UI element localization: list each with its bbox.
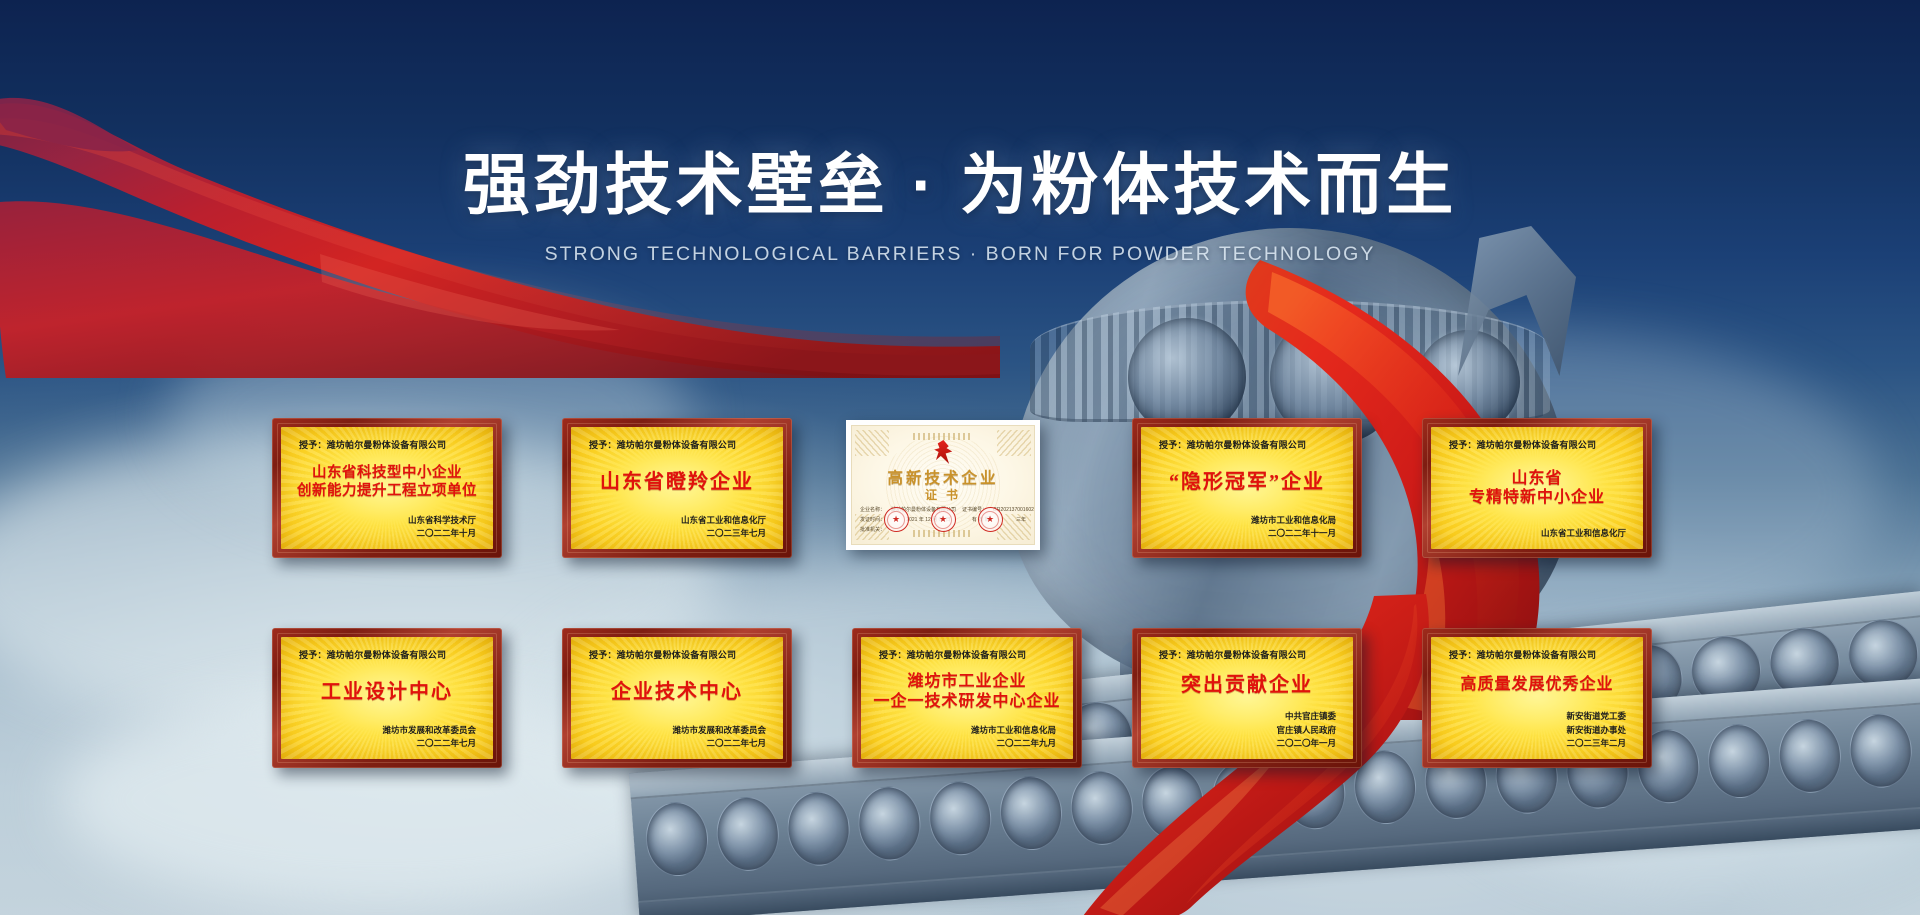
official-seal-icon [884,507,909,532]
plaque-issuer-date: 二〇二二年七月 [295,737,476,750]
plaque-issuer: 中共官庄镇委 官庄镇人民政府 二〇二〇年一月 [1155,710,1339,750]
plaque-issuer-line: 潍坊市工业和信息化局 [875,724,1056,737]
plaque-issuer-date: 二〇二二年九月 [875,737,1056,750]
plaque-face: 授予：潍坊帕尔曼粉体设备有限公司 山东省科技型中小企业 创新能力提升工程立项单位… [281,427,493,549]
plaque-awardee: 授予：潍坊帕尔曼粉体设备有限公司 [295,648,479,661]
plaque-title: 突出贡献企业 [1155,661,1339,710]
plaque-face: 授予：潍坊帕尔曼粉体设备有限公司 企业技术中心 潍坊市发展和改革委员会 二〇二二… [571,637,783,759]
plaque-issuer: 潍坊市发展和改革委员会 二〇二二年七月 [295,724,479,750]
plaque-title-line: 工业设计中心 [321,681,453,705]
plaque-tuchu-gongxian[interactable]: 授予：潍坊帕尔曼粉体设备有限公司 突出贡献企业 中共官庄镇委 官庄镇人民政府 二… [1132,628,1362,768]
plaque-title-line: 山东省科技型中小企业 [312,465,462,482]
official-seal-icon [931,507,956,532]
honors-grid: 授予：潍坊帕尔曼粉体设备有限公司 山东省科技型中小企业 创新能力提升工程立项单位… [0,0,1920,915]
plaque-title: 高质量发展优秀企业 [1445,661,1629,710]
plaque-yinxing-guanjun[interactable]: 授予：潍坊帕尔曼粉体设备有限公司 “隐形冠军”企业 潍坊市工业和信息化局 二〇二… [1132,418,1362,558]
plaque-issuer-date: 二〇二三年二月 [1445,737,1626,750]
plaque-kejixing-zhongxiao-qiye[interactable]: 授予：潍坊帕尔曼粉体设备有限公司 山东省科技型中小企业 创新能力提升工程立项单位… [272,418,502,558]
certificate-corner-ornament [855,430,889,456]
plaque-issuer-line: 潍坊市发展和改革委员会 [295,724,476,737]
plaque-title: 山东省瞪羚企业 [585,451,769,514]
certificate-seal-row [852,507,1034,532]
plaque-issuer-date: 二〇二三年七月 [585,527,766,540]
plaque-title: “隐形冠军”企业 [1155,451,1339,514]
plaque-title-line: 潍坊市工业企业 [907,673,1026,692]
plaque-title-line: 高质量发展优秀企业 [1460,676,1613,695]
official-seal-icon [978,507,1003,532]
honors-banner: 强劲技术壁垒 · 为粉体技术而生 STRONG TECHNOLOGICAL BA… [0,0,1920,915]
plaque-title: 企业技术中心 [585,661,769,724]
plaque-awardee: 授予：潍坊帕尔曼粉体设备有限公司 [1445,438,1629,451]
plaque-zhuanjing-texin[interactable]: 授予：潍坊帕尔曼粉体设备有限公司 山东省 专精特新中小企业 山东省工业和信息化厅 [1422,418,1652,558]
plaque-title-line: “隐形冠军”企业 [1169,471,1325,495]
plaque-issuer: 潍坊市发展和改革委员会 二〇二二年七月 [585,724,769,750]
plaque-awardee: 授予：潍坊帕尔曼粉体设备有限公司 [585,438,769,451]
plaque-issuer-line: 山东省工业和信息化厅 [1445,527,1626,540]
plaque-issuer: 山东省工业和信息化厅 [1445,527,1629,540]
plaque-face: 授予：潍坊帕尔曼粉体设备有限公司 突出贡献企业 中共官庄镇委 官庄镇人民政府 二… [1141,637,1353,759]
certificate-corner-ornament [997,430,1031,456]
plaque-awardee: 授予：潍坊帕尔曼粉体设备有限公司 [875,648,1059,661]
plaque-issuer-line: 中共官庄镇委 [1155,710,1336,723]
plaque-awardee: 授予：潍坊帕尔曼粉体设备有限公司 [1155,648,1339,661]
plaque-issuer-date: 二〇二〇年一月 [1155,737,1336,750]
plaque-face: 授予：潍坊帕尔曼粉体设备有限公司 “隐形冠军”企业 潍坊市工业和信息化局 二〇二… [1141,427,1353,549]
plaque-gaozhiliang-fazhan[interactable]: 授予：潍坊帕尔曼粉体设备有限公司 高质量发展优秀企业 新安街道党工委 新安街道办… [1422,628,1652,768]
plaque-issuer-date: 二〇二二年十一月 [1155,527,1336,540]
plaque-issuer-date: 二〇二二年七月 [585,737,766,750]
plaque-issuer-line: 山东省科学技术厅 [295,514,476,527]
plaque-awardee: 授予：潍坊帕尔曼粉体设备有限公司 [1445,648,1629,661]
plaque-issuer: 山东省工业和信息化厅 二〇二三年七月 [585,514,769,540]
plaque-title-line: 一企一技术研发中心企业 [874,693,1061,712]
plaque-issuer: 潍坊市工业和信息化局 二〇二二年九月 [875,724,1059,750]
plaque-issuer: 新安街道党工委 新安街道办事处 二〇二三年二月 [1445,710,1629,750]
plaque-title-line: 创新能力提升工程立项单位 [297,483,477,500]
plaque-issuer: 潍坊市工业和信息化局 二〇二二年十一月 [1155,514,1339,540]
plaque-awardee: 授予：潍坊帕尔曼粉体设备有限公司 [585,648,769,661]
plaque-face: 授予：潍坊帕尔曼粉体设备有限公司 山东省 专精特新中小企业 山东省工业和信息化厅 [1431,427,1643,549]
plaque-issuer-line: 潍坊市工业和信息化局 [1155,514,1336,527]
certificate-face: 高新技术企业 证 书 企业名称： 潍坊帕尔曼粉体设备有限公司 证书编号： GR2… [851,425,1035,545]
page-title: 强劲技术壁垒 · 为粉体技术而生 [0,148,1920,223]
plaque-awardee: 授予：潍坊帕尔曼粉体设备有限公司 [1155,438,1339,451]
certificate-subtitle: 证 书 [852,486,1034,503]
banner-heading: 强劲技术壁垒 · 为粉体技术而生 STRONG TECHNOLOGICAL BA… [0,148,1920,266]
plaque-face: 授予：潍坊帕尔曼粉体设备有限公司 工业设计中心 潍坊市发展和改革委员会 二〇二二… [281,637,493,759]
plaque-face: 授予：潍坊帕尔曼粉体设备有限公司 高质量发展优秀企业 新安街道党工委 新安街道办… [1431,637,1643,759]
plaque-title-line: 山东省 [1511,470,1562,489]
plaque-dengling-qiye[interactable]: 授予：潍坊帕尔曼粉体设备有限公司 山东省瞪羚企业 山东省工业和信息化厅 二〇二三… [562,418,792,558]
plaque-title-line: 专精特新中小企业 [1469,489,1605,508]
plaque-gongye-sheji-zhongxin[interactable]: 授予：潍坊帕尔曼粉体设备有限公司 工业设计中心 潍坊市发展和改革委员会 二〇二二… [272,628,502,768]
plaque-awardee: 授予：潍坊帕尔曼粉体设备有限公司 [295,438,479,451]
certificate-title: 高新技术企业 [852,466,1034,488]
plaque-title-line: 山东省瞪羚企业 [600,471,754,495]
plaque-issuer-line: 山东省工业和信息化厅 [585,514,766,527]
high-tech-enterprise-certificate[interactable]: 高新技术企业 证 书 企业名称： 潍坊帕尔曼粉体设备有限公司 证书编号： GR2… [846,420,1040,550]
plaque-issuer-date: 二〇二二年十月 [295,527,476,540]
plaque-issuer: 山东省科学技术厅 二〇二二年十月 [295,514,479,540]
plaque-issuer-line: 新安街道党工委 [1445,710,1626,723]
page-subtitle: STRONG TECHNOLOGICAL BARRIERS · BORN FOR… [0,243,1920,266]
plaque-face: 授予：潍坊帕尔曼粉体设备有限公司 山东省瞪羚企业 山东省工业和信息化厅 二〇二三… [571,427,783,549]
plaque-qiye-jishu-zhongxin[interactable]: 授予：潍坊帕尔曼粉体设备有限公司 企业技术中心 潍坊市发展和改革委员会 二〇二二… [562,628,792,768]
plaque-title: 山东省 专精特新中小企业 [1445,451,1629,527]
plaque-title: 山东省科技型中小企业 创新能力提升工程立项单位 [295,451,479,514]
plaque-yiqi-yijishu-yanfa[interactable]: 授予：潍坊帕尔曼粉体设备有限公司 潍坊市工业企业 一企一技术研发中心企业 潍坊市… [852,628,1082,768]
plaque-title-line: 突出贡献企业 [1181,674,1313,698]
plaque-face: 授予：潍坊帕尔曼粉体设备有限公司 潍坊市工业企业 一企一技术研发中心企业 潍坊市… [861,637,1073,759]
plaque-title: 工业设计中心 [295,661,479,724]
plaque-title: 潍坊市工业企业 一企一技术研发中心企业 [875,661,1059,724]
plaque-title-line: 企业技术中心 [611,681,743,705]
plaque-issuer-line: 官庄镇人民政府 [1155,724,1336,737]
plaque-issuer-line: 潍坊市发展和改革委员会 [585,724,766,737]
plaque-issuer-line: 新安街道办事处 [1445,724,1626,737]
